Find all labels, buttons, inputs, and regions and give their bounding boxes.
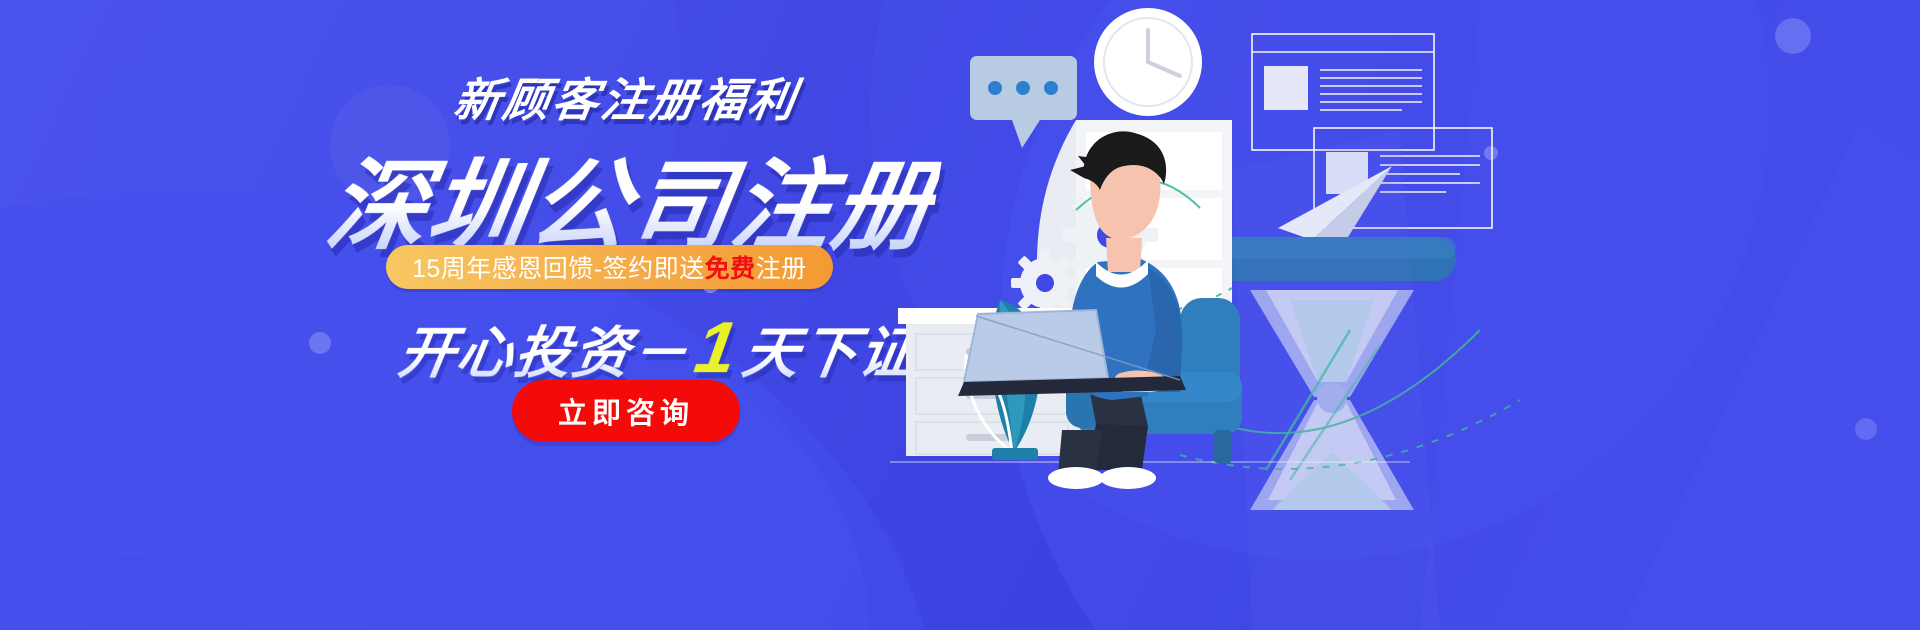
hero-illustration xyxy=(880,0,1920,630)
eyebrow-text: 新顾客注册福利 xyxy=(450,64,803,130)
tagline-number: 1 xyxy=(690,307,745,389)
promo-badge-highlight: 免费 xyxy=(705,249,756,285)
consult-now-button[interactable]: 立即咨询 xyxy=(512,380,740,442)
tagline-before: 开心投资－ xyxy=(394,308,697,389)
copy-column: 新顾客注册福利 深圳公司注册 15周年感恩回馈-签约即送免费注册 开心投资－1天… xyxy=(0,0,960,630)
document-card xyxy=(1252,34,1434,150)
promo-badge: 15周年感恩回馈-签约即送免费注册 xyxy=(386,245,833,289)
promo-badge-prefix: 15周年感恩回馈-签约即送 xyxy=(412,249,705,285)
consult-now-label: 立即咨询 xyxy=(558,390,694,432)
promo-badge-suffix: 注册 xyxy=(756,249,807,285)
wall-clock-icon xyxy=(1094,8,1202,116)
tagline: 开心投资－1天下证 xyxy=(394,307,925,389)
promo-banner: 新顾客注册福利 深圳公司注册 15周年感恩回馈-签约即送免费注册 开心投资－1天… xyxy=(0,0,1920,630)
chat-bubble-icon xyxy=(970,56,1077,148)
